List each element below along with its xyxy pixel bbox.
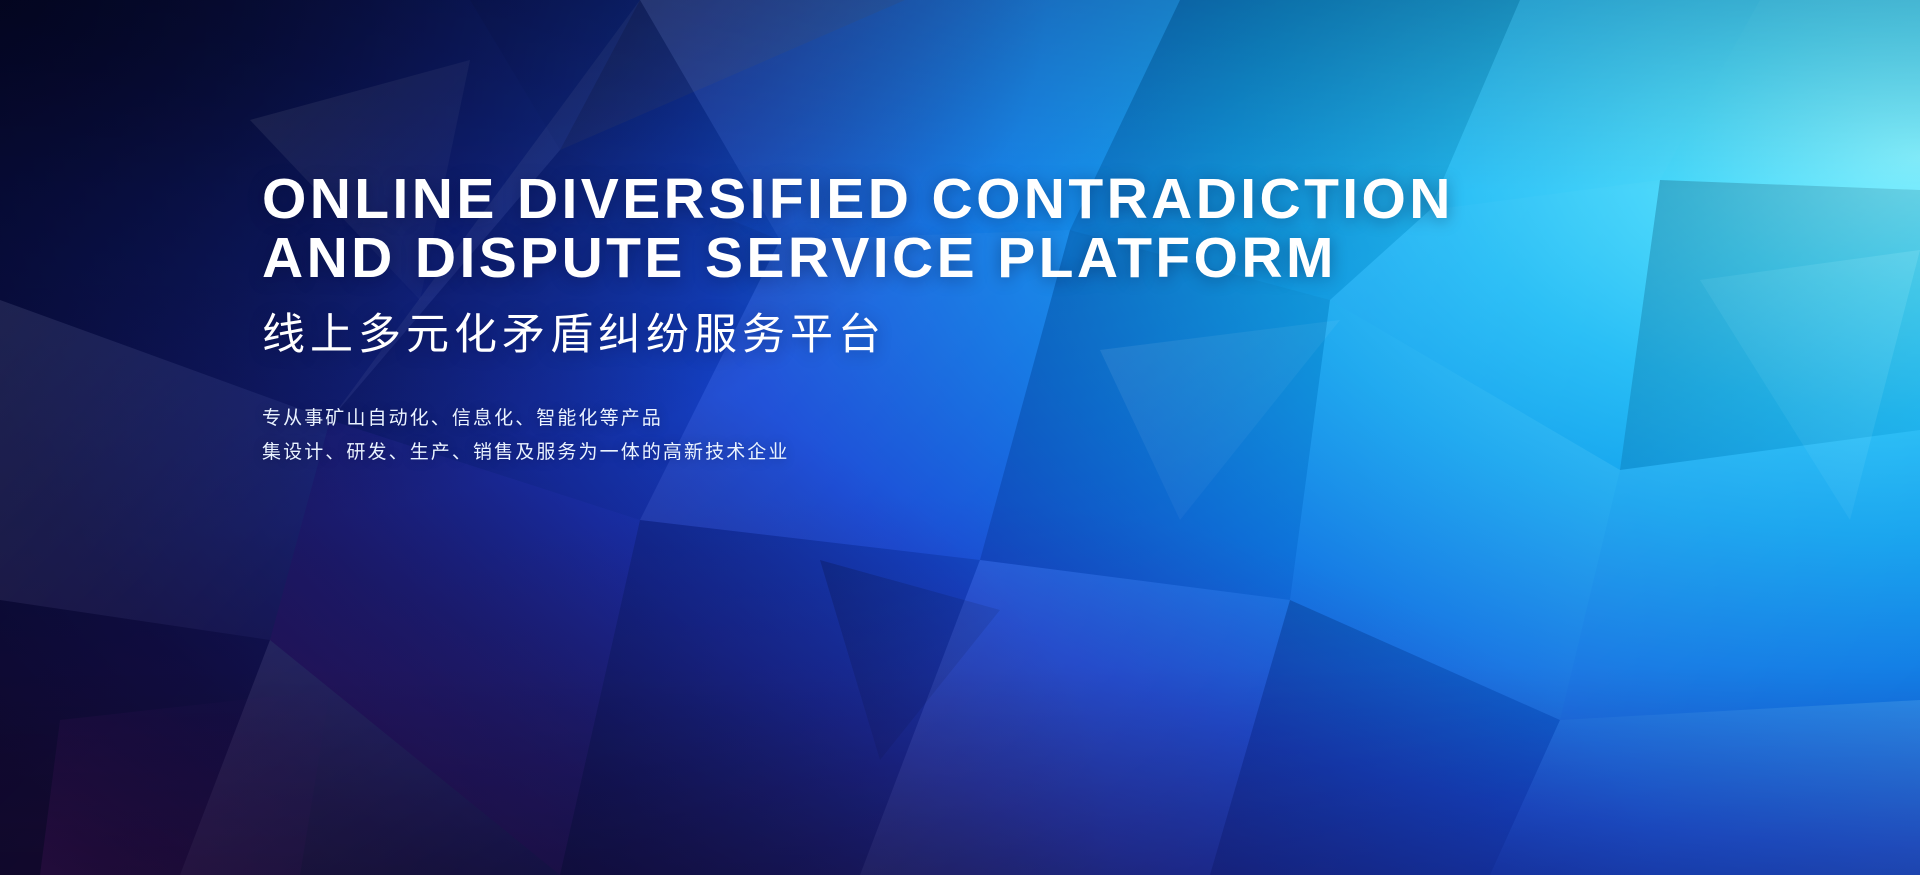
hero-banner: ONLINE DIVERSIFIED CONTRADICTION AND DIS… — [0, 0, 1920, 875]
subtitle-line-2: 集设计、研发、生产、销售及服务为一体的高新技术企业 — [262, 436, 1562, 470]
hero-title-english: ONLINE DIVERSIFIED CONTRADICTION AND DIS… — [262, 170, 1562, 288]
hero-content: ONLINE DIVERSIFIED CONTRADICTION AND DIS… — [262, 170, 1562, 470]
hero-subtitle: 专从事矿山自动化、信息化、智能化等产品 集设计、研发、生产、销售及服务为一体的高… — [262, 402, 1562, 470]
subtitle-line-1: 专从事矿山自动化、信息化、智能化等产品 — [262, 402, 1562, 436]
hero-title-chinese: 线上多元化矛盾纠纷服务平台 — [262, 310, 1562, 360]
